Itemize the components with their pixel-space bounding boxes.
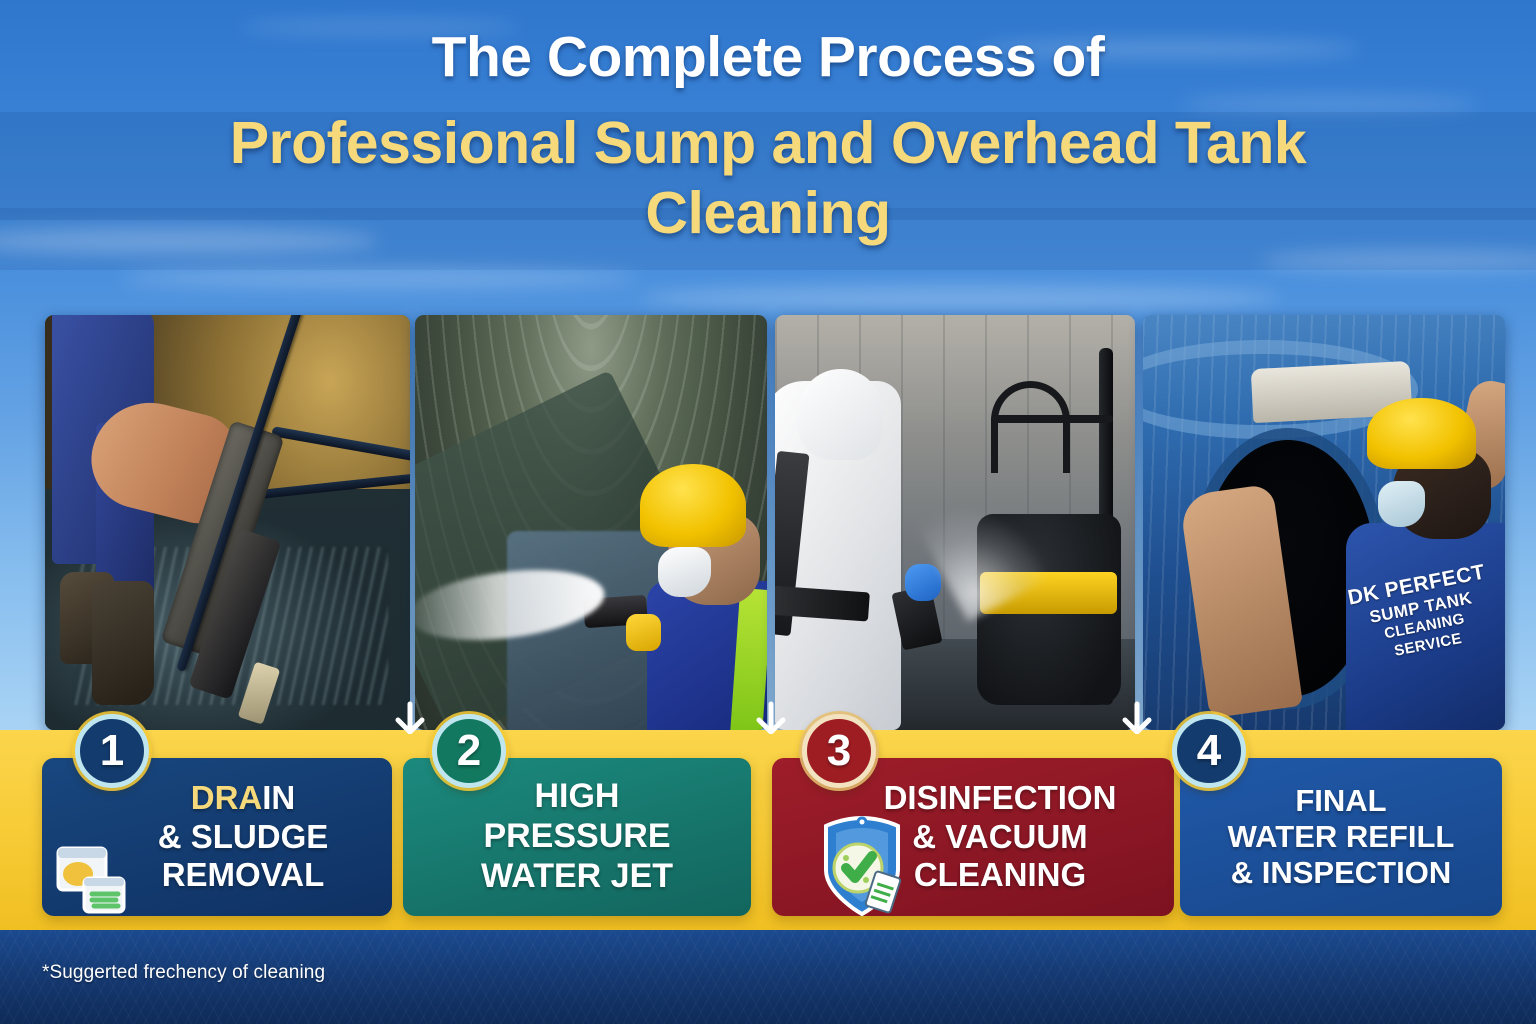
sludge-buckets-icon [52,832,144,924]
cloud-wisp [120,268,640,288]
shield-check-icon [812,812,912,922]
arrow-down-icon-1 [393,700,427,734]
step-badge-4: 4 [1172,714,1246,788]
page-title-line1: The Complete Process of [0,28,1536,87]
arrow-down-icon-3 [1120,700,1154,734]
step-3-label-line3: CLEANING [884,856,1117,895]
step-card-4-label: FINAL WATER REFILL & INSPECTION [1228,783,1455,892]
step-1-label-part1: DRA [191,779,263,816]
step-4-label-line1: FINAL [1228,783,1455,819]
header: The Complete Process of Professional Sum… [0,0,1536,248]
page-title-line2: Professional Sump and Overhead Tank Clea… [0,109,1536,248]
step-4-label-line2: WATER REFILL [1228,819,1455,855]
page-title-line3-text: Cleaning [80,179,1456,249]
page-title-line2-text: Professional Sump and Overhead Tank [80,109,1456,179]
step-3-label-line2: & VACUUM [884,818,1117,857]
footnote-text: *Suggerted frechency of cleaning [42,962,325,984]
step-3-label-line1: DISINFECTION [884,779,1117,818]
step-2-label-line1: HIGH [481,777,673,817]
step-1-label-line3: REMOVAL [158,856,329,895]
photo-high-pressure-water-jet [415,315,767,730]
step-1-label-line2: & SLUDGE [158,818,329,857]
step-badge-1: 1 [75,714,149,788]
step-badge-2: 2 [432,714,506,788]
step-2-label-line3: WATER JET [481,857,673,897]
photo-drain-sludge-removal [45,315,410,730]
step-2-label-line2: PRESSURE [481,817,673,857]
photo-strip: DK PERFECT SUMP TANK CLEANING SERVICE [0,315,1536,730]
step-badge-3: 3 [802,714,876,788]
step-1-label-part2: IN [262,779,295,816]
step-4-label-line3: & INSPECTION [1228,855,1455,891]
footer: *Suggerted frechency of cleaning [0,930,1536,1024]
photo-final-refill-inspection: DK PERFECT SUMP TANK CLEANING SERVICE [1143,315,1505,730]
arrow-down-icon-2 [754,700,788,734]
photo-disinfection-vacuum [775,315,1135,730]
step-card-2-label: HIGH PRESSURE WATER JET [481,777,673,896]
cloud-wisp [640,286,1280,310]
